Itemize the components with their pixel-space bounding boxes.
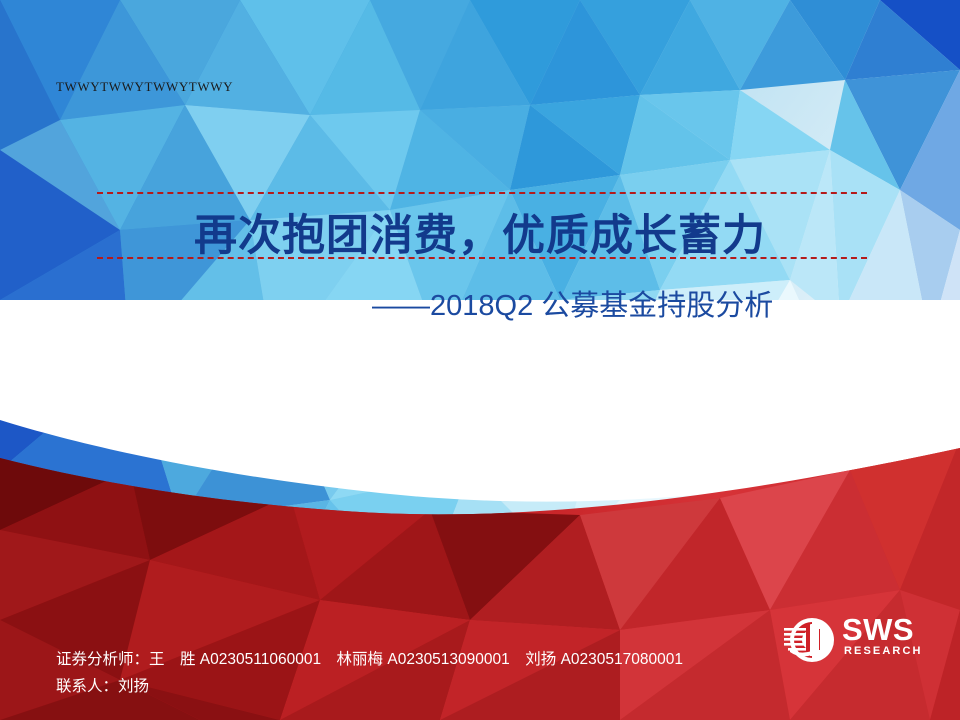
slide-title: 再次抱团消费，优质成长蓄力 (0, 213, 960, 259)
footer-analysts-line: 证券分析师：王 胜 A0230511060001 林丽梅 A0230513090… (56, 647, 683, 674)
slide-subtitle: ——2018Q2 公募基金持股分析 (372, 286, 802, 327)
footer-contact-line: 联系人：刘扬 (56, 674, 683, 701)
header-watermark-text: TWWYTWWYTWWYTWWY (56, 80, 233, 93)
presentation-slide: TWWYTWWYTWWYTWWY 再次抱团消费，优质成长蓄力 ——2018Q2 … (0, 0, 960, 720)
logo-wordmark: SWS (842, 614, 914, 645)
logo-subwordmark: RESEARCH (844, 646, 923, 657)
sws-research-logo: SWS RESEARCH (782, 612, 932, 670)
footer-credits: 证券分析师：王 胜 A0230511060001 林丽梅 A0230513090… (56, 647, 683, 700)
sws-disc-mark-icon (782, 612, 838, 668)
dashed-rule-top (97, 192, 867, 194)
